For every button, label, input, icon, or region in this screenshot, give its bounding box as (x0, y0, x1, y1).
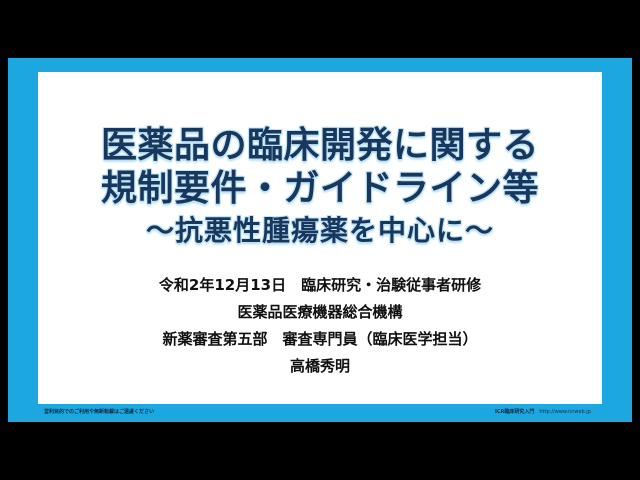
footer-bar: 営利目的でのご利用や無断転載はご遠慮ください ICR臨床研究入門http://w… (8, 404, 632, 422)
footer-url-link[interactable]: http://www.icrweb.jp (539, 409, 590, 415)
title-block: 医薬品の臨床開発に関する 規制要件・ガイドライン等 〜抗悪性腫瘍薬を中心に〜 (38, 124, 602, 250)
slide-white-page: 医薬品の臨床開発に関する 規制要件・ガイドライン等 〜抗悪性腫瘍薬を中心に〜 令… (38, 72, 602, 404)
credit-line-department: 新薬審査第五部 審査専門員（臨床医学担当） (38, 326, 602, 353)
credit-line-organization: 医薬品医療機器総合機構 (38, 299, 602, 326)
letterbox-top (0, 0, 640, 58)
credit-line-event-date: 令和2年12月13日 臨床研究・治験従事者研修 (38, 272, 602, 299)
title-line-2: 規制要件・ガイドライン等 (38, 167, 602, 210)
credits-block: 令和2年12月13日 臨床研究・治験従事者研修 医薬品医療機器総合機構 新薬審査… (38, 272, 602, 380)
title-subtitle: 〜抗悪性腫瘍薬を中心に〜 (38, 212, 602, 250)
slide-blue-frame: 医薬品の臨床開発に関する 規制要件・ガイドライン等 〜抗悪性腫瘍薬を中心に〜 令… (8, 58, 632, 422)
credit-line-presenter: 高橋秀明 (38, 353, 602, 380)
letterbox-bottom (0, 422, 640, 480)
title-line-1: 医薬品の臨床開発に関する (38, 124, 602, 167)
footer-brand-label: ICR臨床研究入門 (495, 409, 534, 415)
footer-brand-group: ICR臨床研究入門http://www.icrweb.jp (495, 408, 591, 416)
slide-viewport: 医薬品の臨床開発に関する 規制要件・ガイドライン等 〜抗悪性腫瘍薬を中心に〜 令… (0, 0, 640, 480)
footer-copyright-notice: 営利目的でのご利用や無断転載はご遠慮ください (44, 408, 154, 416)
